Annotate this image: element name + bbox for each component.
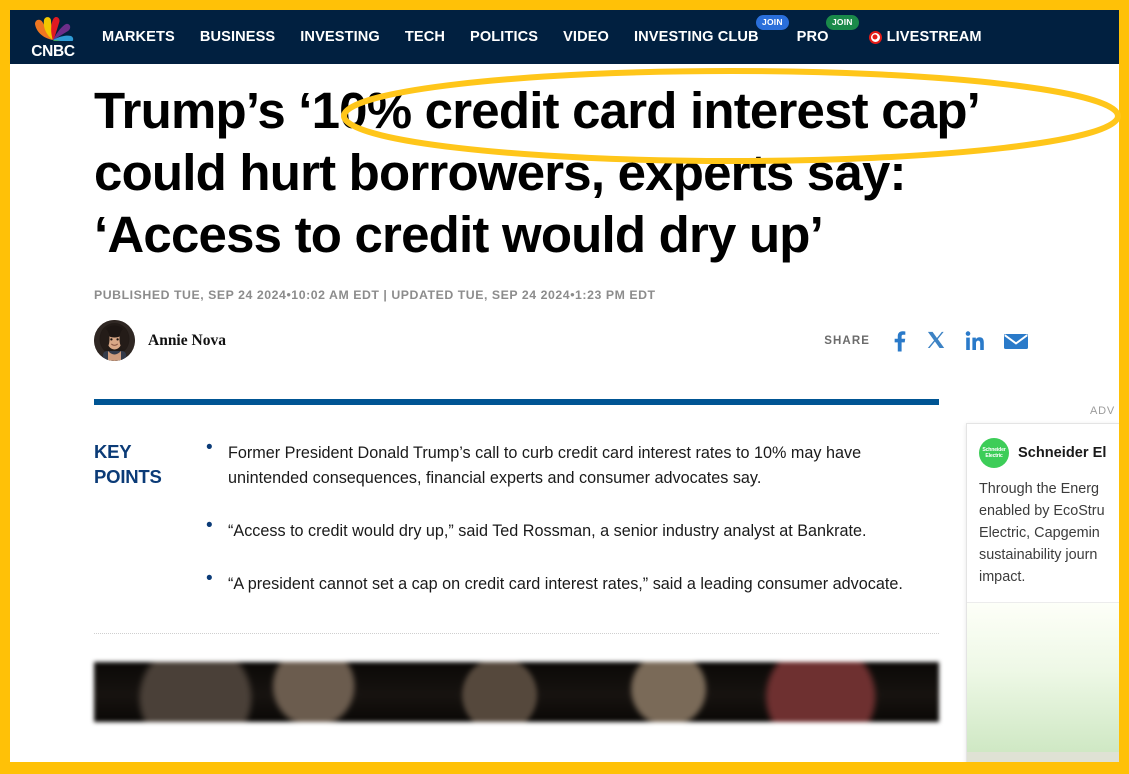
nav-item-investing-club[interactable]: INVESTING CLUB JOIN — [634, 29, 759, 45]
cnbc-peacock-icon — [30, 15, 76, 41]
avatar — [94, 320, 135, 361]
cnbc-logo[interactable]: CNBC — [22, 15, 84, 59]
share-label: SHARE — [824, 335, 870, 347]
article-hero-image — [94, 662, 939, 722]
article-timestamp: PUBLISHED TUE, SEP 24 2024•10:02 AM EDT … — [94, 288, 1119, 302]
nav-item-investing[interactable]: INVESTING — [300, 29, 380, 45]
livestream-record-icon — [869, 31, 882, 44]
key-point-text: “A president cannot set a cap on credit … — [228, 572, 903, 597]
key-points-label: KEY POINTS — [94, 439, 206, 625]
advertisement-panel: ADV SchneiderElectric Schneider El Throu… — [966, 405, 1119, 762]
investing-club-join-badge[interactable]: JOIN — [756, 15, 789, 30]
key-points-label-line2: POINTS — [94, 464, 206, 489]
ad-body-line: Electric, Capgemin — [979, 522, 1111, 544]
advertiser-name: Schneider El — [1018, 445, 1106, 461]
schneider-electric-logo-icon: SchneiderElectric — [979, 438, 1009, 468]
advertisement-card[interactable]: SchneiderElectric Schneider El Through t… — [966, 423, 1119, 762]
ad-body-line: Through the Energ — [979, 478, 1111, 500]
ad-body-line: enabled by EcoStru — [979, 500, 1111, 522]
facebook-icon[interactable] — [890, 330, 908, 352]
author-name[interactable]: Annie Nova — [148, 332, 226, 350]
screenshot-root: CNBC MARKETS BUSINESS INVESTING TECH POL… — [0, 0, 1129, 774]
key-points-label-line1: KEY — [94, 439, 206, 464]
cnbc-wordmark: CNBC — [22, 44, 84, 59]
bullet-icon: • — [206, 572, 228, 597]
nav-item-livestream[interactable]: LIVESTREAM — [869, 29, 982, 45]
pro-join-badge[interactable]: JOIN — [826, 15, 859, 30]
advertisement-label: ADV — [966, 405, 1119, 417]
linkedin-icon[interactable] — [965, 330, 985, 351]
page-viewport: CNBC MARKETS BUSINESS INVESTING TECH POL… — [10, 10, 1119, 762]
bullet-icon: • — [206, 441, 228, 491]
ad-body-line: sustainability journ — [979, 544, 1111, 566]
nav-item-investing-club-label: INVESTING CLUB — [634, 29, 759, 45]
nav-item-video[interactable]: VIDEO — [563, 29, 609, 45]
avatar-portrait-icon — [94, 320, 135, 361]
key-point-item: • “A president cannot set a cap on credi… — [206, 572, 944, 597]
author-block[interactable]: Annie Nova — [94, 320, 226, 361]
nav-item-livestream-label: LIVESTREAM — [887, 29, 982, 45]
key-point-text: Former President Donald Trump’s call to … — [228, 441, 944, 491]
advertisement-image — [967, 602, 1119, 752]
advertisement-body: Through the Energ enabled by EcoStru Ele… — [967, 476, 1119, 602]
key-points-list: • Former President Donald Trump’s call t… — [206, 439, 944, 625]
nav-item-pro[interactable]: PRO JOIN — [797, 29, 829, 45]
nav-item-markets[interactable]: MARKETS — [102, 29, 175, 45]
article-container: Trump’s ‘10% credit card interest cap’ c… — [10, 80, 1119, 722]
nav-item-tech[interactable]: TECH — [405, 29, 445, 45]
section-divider — [94, 399, 939, 405]
key-points-section: KEY POINTS • Former President Donald Tru… — [94, 439, 944, 625]
nav-item-pro-label: PRO — [797, 29, 829, 45]
key-point-item: • Former President Donald Trump’s call t… — [206, 441, 944, 491]
key-point-text: “Access to credit would dry up,” said Te… — [228, 519, 867, 544]
email-icon[interactable] — [1003, 331, 1029, 351]
page-title: Trump’s ‘10% credit card interest cap’ c… — [94, 80, 1104, 266]
advertisement-image-lower — [967, 752, 1119, 762]
ad-body-line: impact. — [979, 566, 1111, 588]
nav-item-business[interactable]: BUSINESS — [200, 29, 275, 45]
byline-row: Annie Nova SHARE — [94, 320, 1029, 361]
advertiser-header: SchneiderElectric Schneider El — [967, 424, 1119, 476]
x-twitter-icon[interactable] — [926, 330, 947, 351]
share-bar: SHARE — [824, 330, 1029, 352]
key-points-divider — [94, 633, 939, 634]
key-point-item: • “Access to credit would dry up,” said … — [206, 519, 944, 544]
site-navigation-bar: CNBC MARKETS BUSINESS INVESTING TECH POL… — [10, 10, 1119, 64]
nav-item-politics[interactable]: POLITICS — [470, 29, 538, 45]
bullet-icon: • — [206, 519, 228, 544]
